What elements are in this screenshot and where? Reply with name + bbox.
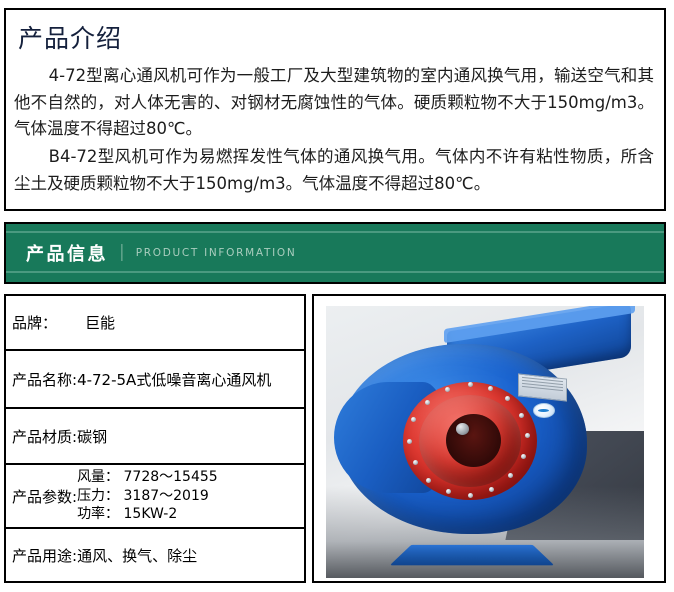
fan-base-plate xyxy=(390,545,555,566)
flange-bolt-icon xyxy=(525,433,530,438)
band-title-en: PRODUCT INFORMATION xyxy=(136,247,297,259)
band-inner: 产品信息 | PRODUCT INFORMATION xyxy=(26,224,296,282)
flange-bolt-icon xyxy=(521,454,526,459)
fan-nameplate-label xyxy=(518,374,567,402)
fan-scroll-housing xyxy=(339,344,587,534)
spec-label-usage: 产品用途: xyxy=(12,545,77,566)
flange-bolt-icon xyxy=(426,478,431,483)
table-row: 产品参数: 风量： 7728～15455 压力： 3187～2019 功率： 1… xyxy=(6,465,304,529)
spec-param-power: 功率： 15KW-2 xyxy=(77,505,218,524)
band-divider: | xyxy=(119,242,125,264)
spec-label-product-name: 产品名称: xyxy=(12,369,77,390)
product-intro-panel: 产品介绍 4-72型离心通风机可作为一般工厂及大型建筑物的室内通风换气用，输送空… xyxy=(4,8,666,211)
spec-value-material: 碳钢 xyxy=(77,426,107,447)
fan-hub-icon xyxy=(456,423,469,435)
spec-value-brand: 巨能 xyxy=(85,312,115,333)
product-photo-cell xyxy=(312,294,666,583)
flange-bolt-icon xyxy=(407,439,412,444)
table-row: 产品名称: 4-72-5A式低噪音离心通风机 xyxy=(6,351,304,409)
fan-inlet-cone xyxy=(419,395,521,487)
spec-parameter-lines: 风量： 7728～15455 压力： 3187～2019 功率： 15KW-2 xyxy=(77,468,218,524)
intro-paragraph-2: B4-72型风机可作为易燃挥发性气体的通风换气用。气体内不许有粘性物质，所含尘土… xyxy=(14,144,654,197)
flange-bolt-icon xyxy=(468,493,473,498)
flange-bolt-icon xyxy=(488,386,493,391)
fan-inlet-opening xyxy=(446,414,501,467)
spec-param-pressure: 压力： 3187～2019 xyxy=(77,487,218,506)
flange-bolt-icon xyxy=(411,417,416,422)
band-title-cn: 产品信息 xyxy=(26,240,108,266)
brand-logo-sticker-icon xyxy=(533,403,555,418)
intro-body: 4-72型离心通风机可作为一般工厂及大型建筑物的室内通风换气用，输送空气和其他不… xyxy=(6,51,664,198)
fan-inlet-flange xyxy=(403,382,537,500)
flange-bolt-icon xyxy=(413,460,418,465)
table-row: 产品材质: 碳钢 xyxy=(6,409,304,465)
page-title: 产品介绍 xyxy=(6,10,664,51)
spec-value-usage: 通风、换气、除尘 xyxy=(77,545,197,566)
spec-label-material: 产品材质: xyxy=(12,426,77,447)
flange-bolt-icon xyxy=(489,487,494,492)
flange-bolt-icon xyxy=(425,400,430,405)
spec-section: 品牌： 巨能 产品名称: 4-72-5A式低噪音离心通风机 产品材质: 碳钢 产… xyxy=(4,294,666,583)
product-information-band: 产品信息 | PRODUCT INFORMATION xyxy=(4,222,666,284)
spec-label-brand: 品牌： xyxy=(12,312,57,333)
flange-bolt-icon xyxy=(446,489,451,494)
spec-value-product-name: 4-72-5A式低噪音离心通风机 xyxy=(77,369,271,390)
product-photo xyxy=(326,306,644,578)
spec-table: 品牌： 巨能 产品名称: 4-72-5A式低噪音离心通风机 产品材质: 碳钢 产… xyxy=(4,294,306,583)
flange-bolt-icon xyxy=(519,413,524,418)
intro-paragraph-1: 4-72型离心通风机可作为一般工厂及大型建筑物的室内通风换气用，输送空气和其他不… xyxy=(14,63,654,143)
table-row: 品牌： 巨能 xyxy=(6,296,304,351)
spec-label-parameters: 产品参数: xyxy=(12,486,77,507)
table-row: 产品用途: 通风、换气、除尘 xyxy=(6,529,304,581)
flange-bolt-icon xyxy=(508,473,513,478)
flange-bolt-icon xyxy=(445,387,450,392)
flange-bolt-icon xyxy=(505,396,510,401)
spec-parameters-cell: 产品参数: 风量： 7728～15455 压力： 3187～2019 功率： 1… xyxy=(12,468,304,524)
spec-param-airflow: 风量： 7728～15455 xyxy=(77,468,218,487)
flange-bolt-icon xyxy=(468,382,473,387)
